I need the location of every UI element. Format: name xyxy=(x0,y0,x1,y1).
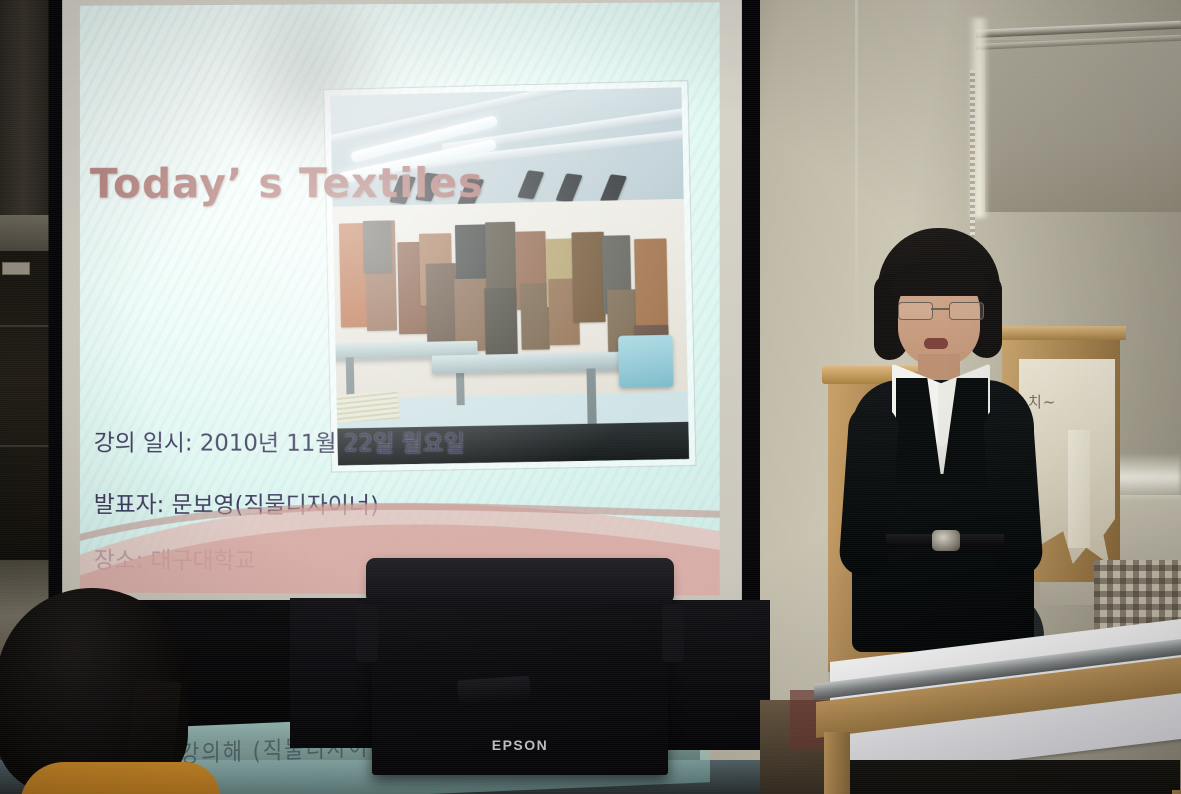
photo-storage-bin xyxy=(618,335,674,388)
photo-table-leg xyxy=(586,368,596,426)
fabric-swatch xyxy=(634,238,668,335)
table-underside xyxy=(850,760,1180,794)
table-leg xyxy=(824,732,850,794)
slide-title: Today’ s Textiles xyxy=(90,159,484,208)
glasses-lens-left xyxy=(898,302,933,320)
fabric-swatch xyxy=(520,283,550,350)
photo-fabric-stack xyxy=(336,391,400,423)
belt-buckle xyxy=(932,530,960,551)
presenter xyxy=(836,228,1046,658)
fabric-swatch xyxy=(363,220,392,273)
foreground-drafting-table xyxy=(820,640,1181,794)
audience-shoulder xyxy=(20,762,220,794)
bag-strap-left xyxy=(356,604,378,662)
presenter-bangs xyxy=(892,262,988,296)
presentation-slide: Today’ s Textiles 강의 일시: 2010년 11월 22일 월… xyxy=(80,2,720,595)
fabric-swatch xyxy=(484,288,518,363)
glasses-icon xyxy=(898,302,982,318)
fabric-swatch xyxy=(426,263,458,344)
cabinet-label-tag xyxy=(2,262,30,275)
bag-strap-right xyxy=(662,604,684,662)
presenter-mouth xyxy=(924,338,948,349)
roller-blind xyxy=(985,40,1181,212)
bag-pocket xyxy=(457,676,531,707)
bag-flap xyxy=(366,558,674,604)
paper-fold xyxy=(1068,430,1090,548)
fabric-swatch xyxy=(572,232,606,323)
table-leg xyxy=(1172,790,1181,794)
glasses-bridge xyxy=(931,308,949,310)
screen-surface: Today’ s Textiles 강의 일시: 2010년 11월 22일 월… xyxy=(62,0,742,616)
epson-projector-bag: EPSON xyxy=(372,560,668,775)
projection-screen: Today’ s Textiles 강의 일시: 2010년 11월 22일 월… xyxy=(48,0,760,632)
slide-photo xyxy=(330,87,689,465)
lecture-room-scene: 치~ xyxy=(0,0,1181,794)
slide-photo-frame xyxy=(324,81,695,471)
glasses-lens-right xyxy=(949,302,984,320)
epson-logo: EPSON xyxy=(372,737,668,753)
presenter-arm-right xyxy=(982,402,1044,577)
